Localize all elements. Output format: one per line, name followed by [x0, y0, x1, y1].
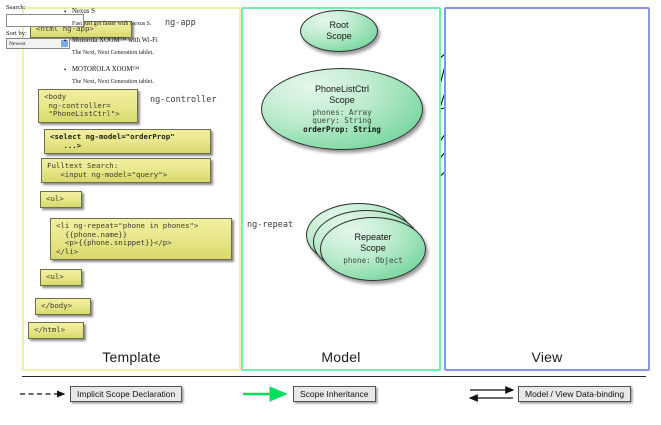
phone-name: MOTOROLA XOOM™ — [72, 66, 194, 74]
label-ng-controller: ng-controller — [148, 95, 219, 105]
phonelist-scope-props: phones: Arrayquery: StringorderProp: Str… — [303, 109, 381, 135]
column-label-template: Template — [24, 349, 239, 365]
legend-data-binding: Model / View Data-binding — [518, 386, 631, 402]
prop-orderprop: orderProp: String — [303, 125, 381, 134]
diagram-canvas: Template Model View — [0, 0, 661, 425]
view-sort-select[interactable]: Newest — [6, 38, 70, 49]
phone-snippet: The Next, Next Generation tablet. — [72, 49, 194, 57]
view-app-preview: Search: Sort by: Newest Nexus S Fast jus… — [4, 4, 198, 334]
label-ng-app: ng-app — [163, 18, 198, 28]
column-label-model: Model — [243, 349, 439, 365]
column-view: View — [444, 7, 650, 371]
column-model: Model — [241, 7, 441, 371]
phonelist-scope-node: PhoneListCtrlScope phones: Arrayquery: S… — [261, 68, 423, 150]
list-item[interactable]: Motorola XOOM™ with Wi-Fi The Next, Next… — [72, 37, 194, 57]
root-scope-node: RootScope — [300, 10, 378, 52]
phone-name: Nexus S — [72, 8, 194, 16]
legend-divider — [22, 376, 646, 377]
legend-scope-inheritance: Scope Inheritance — [293, 386, 376, 402]
phone-name: Motorola XOOM™ with Wi-Fi — [72, 37, 194, 45]
legend-implicit-scope: Implicit Scope Declaration — [70, 386, 182, 402]
repeater-scope-node: RepeaterScope phone: Object — [320, 217, 426, 281]
view-sort-value: Newest — [9, 41, 26, 47]
phonelist-scope-title: PhoneListCtrlScope — [315, 84, 369, 106]
repeater-scope-props: phone: Object — [343, 257, 402, 266]
label-ng-repeat: ng-repeat — [245, 220, 295, 230]
root-scope-title: RootScope — [326, 20, 352, 42]
phone-snippet: The Next, Next Generation tablet. — [72, 78, 194, 86]
column-label-view: View — [446, 349, 648, 365]
list-item[interactable]: MOTOROLA XOOM™ The Next, Next Generation… — [72, 66, 194, 86]
repeater-scope-title: RepeaterScope — [354, 232, 391, 254]
